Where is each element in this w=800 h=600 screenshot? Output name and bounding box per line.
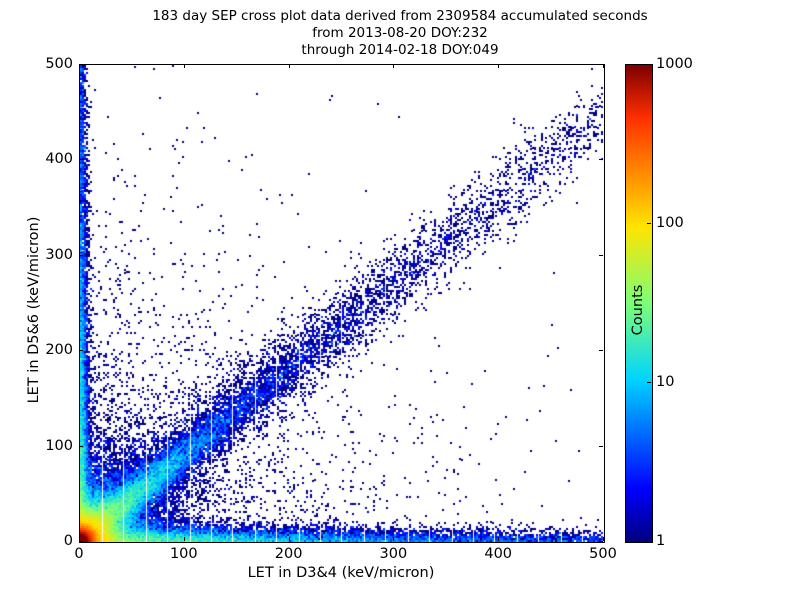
x-tick-mark: [393, 537, 394, 541]
x-tick-label: 400: [463, 546, 533, 562]
x-tick-mark: [289, 64, 290, 68]
colorbar-tick-label: 1000: [656, 56, 693, 72]
y-tick-mark: [599, 255, 603, 256]
y-tick-label: 300: [13, 247, 73, 263]
colorbar-tick-label: 100: [656, 215, 684, 231]
title-line-2: from 2013-08-20 DOY:232: [0, 25, 800, 42]
y-tick-mark: [79, 446, 83, 447]
y-tick-mark: [599, 541, 603, 542]
y-tick-mark: [79, 541, 83, 542]
x-tick-mark: [184, 64, 185, 68]
x-tick-label: 200: [254, 546, 324, 562]
y-axis-title: LET in D5&6 (keV/micron): [26, 70, 42, 550]
y-tick-mark: [79, 159, 83, 160]
y-tick-label: 100: [13, 438, 73, 454]
colorbar-tick-label: 10: [656, 374, 674, 390]
x-tick-mark: [603, 64, 604, 68]
colorbar-tick-label: 1: [656, 533, 665, 549]
y-tick-label: 400: [13, 151, 73, 167]
x-tick-mark: [498, 537, 499, 541]
y-tick-mark: [599, 446, 603, 447]
x-tick-label: 300: [358, 546, 428, 562]
colorbar-tick-mark: [647, 223, 651, 224]
y-tick-mark: [599, 159, 603, 160]
y-tick-mark: [79, 255, 83, 256]
y-tick-label: 200: [13, 342, 73, 358]
x-tick-label: 500: [568, 546, 638, 562]
y-tick-label: 500: [13, 56, 73, 72]
colorbar-tick-mark: [647, 382, 651, 383]
colorbar-title: Counts: [630, 210, 646, 410]
x-tick-mark: [393, 64, 394, 68]
figure-canvas: 183 day SEP cross plot data derived from…: [0, 0, 800, 600]
x-tick-mark: [498, 64, 499, 68]
title-line-1: 183 day SEP cross plot data derived from…: [0, 8, 800, 25]
x-tick-mark: [603, 537, 604, 541]
density-scatter-plot: [80, 65, 604, 542]
y-tick-mark: [79, 350, 83, 351]
x-tick-mark: [79, 537, 80, 541]
y-tick-mark: [599, 350, 603, 351]
figure-title: 183 day SEP cross plot data derived from…: [0, 8, 800, 59]
x-tick-label: 100: [149, 546, 219, 562]
x-tick-label: 0: [44, 546, 114, 562]
x-tick-mark: [289, 537, 290, 541]
x-tick-mark: [79, 64, 80, 68]
x-tick-mark: [184, 537, 185, 541]
plot-area: [79, 64, 605, 543]
x-axis-title: LET in D3&4 (keV/micron): [79, 565, 603, 581]
